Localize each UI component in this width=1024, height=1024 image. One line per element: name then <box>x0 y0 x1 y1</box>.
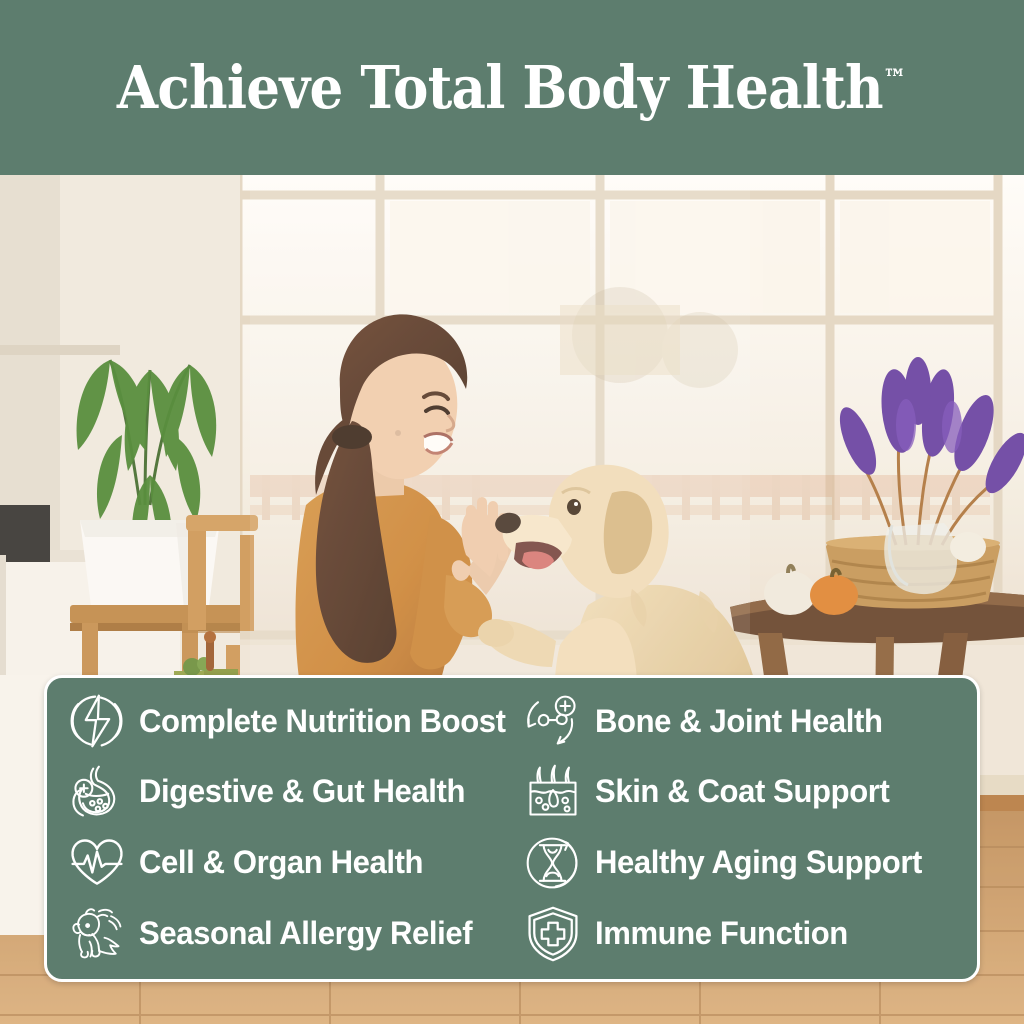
benefit-label: Seasonal Allergy Relief <box>139 917 472 951</box>
stomach-plus-icon <box>65 760 129 824</box>
skin-follicle-icon <box>521 760 585 824</box>
benefit-label: Immune Function <box>595 917 848 951</box>
dog-scratching-icon <box>65 902 129 966</box>
benefit-label: Cell & Organ Health <box>139 846 423 880</box>
benefit-item-healthy-aging-support[interactable]: Healthy Aging Support <box>517 828 965 899</box>
trademark-symbol: ™ <box>883 64 906 94</box>
benefit-item-cell-organ-health[interactable]: Cell & Organ Health <box>61 828 517 899</box>
lightning-bolt-circle-icon <box>65 689 129 753</box>
benefit-label: Digestive & Gut Health <box>139 775 465 809</box>
benefit-item-digestive-gut-health[interactable]: Digestive & Gut Health <box>61 757 517 828</box>
benefit-label: Bone & Joint Health <box>595 705 883 739</box>
bone-joint-arrows-icon <box>521 689 585 753</box>
benefits-panel: Complete Nutrition Boost Bone & Joint H <box>44 675 980 982</box>
page-title-text: Achieve Total Body Health <box>117 53 883 122</box>
page-title: Achieve Total Body Health™ <box>117 58 906 117</box>
benefit-label: Complete Nutrition Boost <box>139 705 506 739</box>
benefit-item-bone-joint-health[interactable]: Bone & Joint Health <box>517 686 965 757</box>
benefit-item-seasonal-allergy-relief[interactable]: Seasonal Allergy Relief <box>61 898 517 969</box>
hourglass-arrow-icon <box>521 831 585 895</box>
heart-pulse-icon <box>65 831 129 895</box>
benefit-label: Skin & Coat Support <box>595 775 889 809</box>
benefit-item-complete-nutrition-boost[interactable]: Complete Nutrition Boost <box>61 686 517 757</box>
header-bar: Achieve Total Body Health™ <box>0 0 1024 175</box>
benefit-item-immune-function[interactable]: Immune Function <box>517 898 965 969</box>
benefit-label: Healthy Aging Support <box>595 846 922 880</box>
benefit-item-skin-coat-support[interactable]: Skin & Coat Support <box>517 757 965 828</box>
shield-cross-icon <box>521 902 585 966</box>
product-infographic: Achieve Total Body Health™ <box>0 0 1024 1024</box>
benefits-grid: Complete Nutrition Boost Bone & Joint H <box>47 678 977 979</box>
